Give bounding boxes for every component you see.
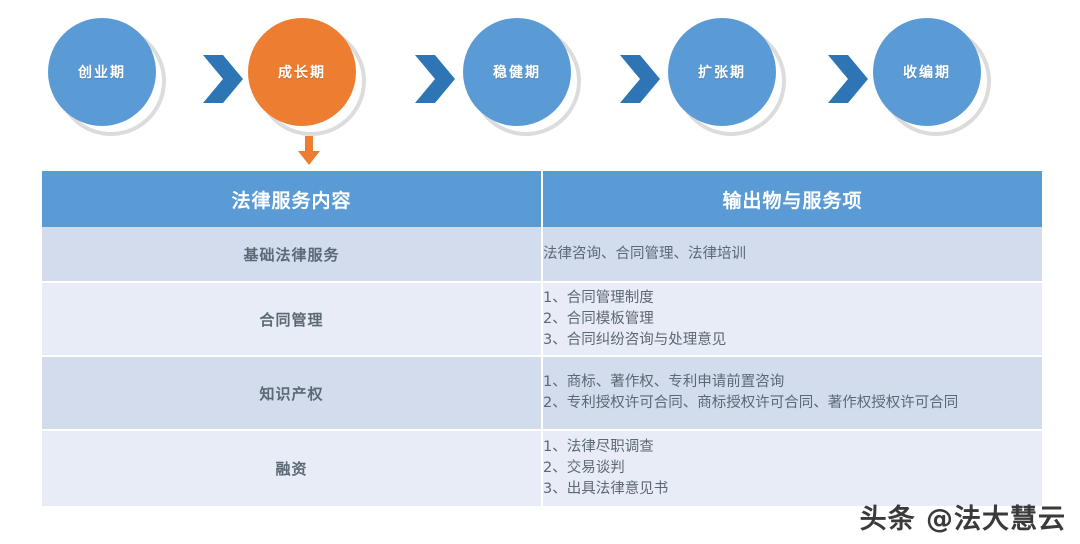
cell-category: 知识产权 [42,357,543,431]
output-line: 1、商标、著作权、专利申请前置咨询 [543,372,1042,393]
output-line: 2、专利授权许可合同、商标授权许可合同、著作权授权许可合同 [543,393,1042,414]
cell-category: 基础法律服务 [42,227,543,283]
chevron-right-icon-1 [201,53,245,105]
arrow-down-icon [296,136,322,166]
stage-label: 稳健期 [493,62,541,82]
stage-disc: 收编期 [873,18,981,126]
table-row: 知识产权 1、商标、著作权、专利申请前置咨询 2、专利授权许可合同、商标授权许可… [42,357,1042,431]
stage-flow-diagram: 创业期 成长期 稳健期 扩张期 [0,0,1080,165]
output-line: 法律咨询、合同管理、法律培训 [543,244,1042,265]
stage-label: 成长期 [278,62,326,82]
stage-disc: 稳健期 [463,18,571,126]
stage-disc: 成长期 [248,18,356,126]
output-line: 2、交易谈判 [543,458,1042,479]
stage-node-4[interactable]: 扩张期 [668,18,790,140]
table-row: 基础法律服务 法律咨询、合同管理、法律培训 [42,227,1042,283]
cell-category: 融资 [42,431,543,508]
watermark-text: 头条 @法大慧云 [860,497,1066,536]
legal-service-table: 法律服务内容 输出物与服务项 基础法律服务 法律咨询、合同管理、法律培训 合同管… [42,171,1042,508]
output-line: 1、合同管理制度 [543,288,1042,309]
table-row: 合同管理 1、合同管理制度 2、合同模板管理 3、合同纠纷咨询与处理意见 [42,283,1042,357]
chevron-right-icon-2 [413,53,457,105]
table-body: 基础法律服务 法律咨询、合同管理、法律培训 合同管理 1、合同管理制度 2、合同… [42,227,1042,508]
stage-node-1[interactable]: 创业期 [48,18,170,140]
chevron-right-icon-4 [826,53,870,105]
stage-node-5[interactable]: 收编期 [873,18,995,140]
chevron-right-icon-3 [618,53,662,105]
stage-label: 扩张期 [698,62,746,82]
column-header-outputs: 输出物与服务项 [543,171,1042,227]
stage-disc: 扩张期 [668,18,776,126]
stage-label: 收编期 [903,62,951,82]
stage-label: 创业期 [78,62,126,82]
cell-category: 合同管理 [42,283,543,357]
cell-outputs: 法律咨询、合同管理、法律培训 [543,227,1042,283]
output-line: 3、合同纠纷咨询与处理意见 [543,330,1042,351]
output-line: 2、合同模板管理 [543,309,1042,330]
cell-outputs: 1、商标、著作权、专利申请前置咨询 2、专利授权许可合同、商标授权许可合同、著作… [543,357,1042,431]
table-header-row: 法律服务内容 输出物与服务项 [42,171,1042,227]
stage-node-2[interactable]: 成长期 [248,18,370,140]
cell-outputs: 1、合同管理制度 2、合同模板管理 3、合同纠纷咨询与处理意见 [543,283,1042,357]
stage-disc: 创业期 [48,18,156,126]
table-header: 法律服务内容 输出物与服务项 [42,171,1042,227]
output-line: 1、法律尽职调查 [543,437,1042,458]
column-header-service-content: 法律服务内容 [42,171,543,227]
stage-node-3[interactable]: 稳健期 [463,18,585,140]
